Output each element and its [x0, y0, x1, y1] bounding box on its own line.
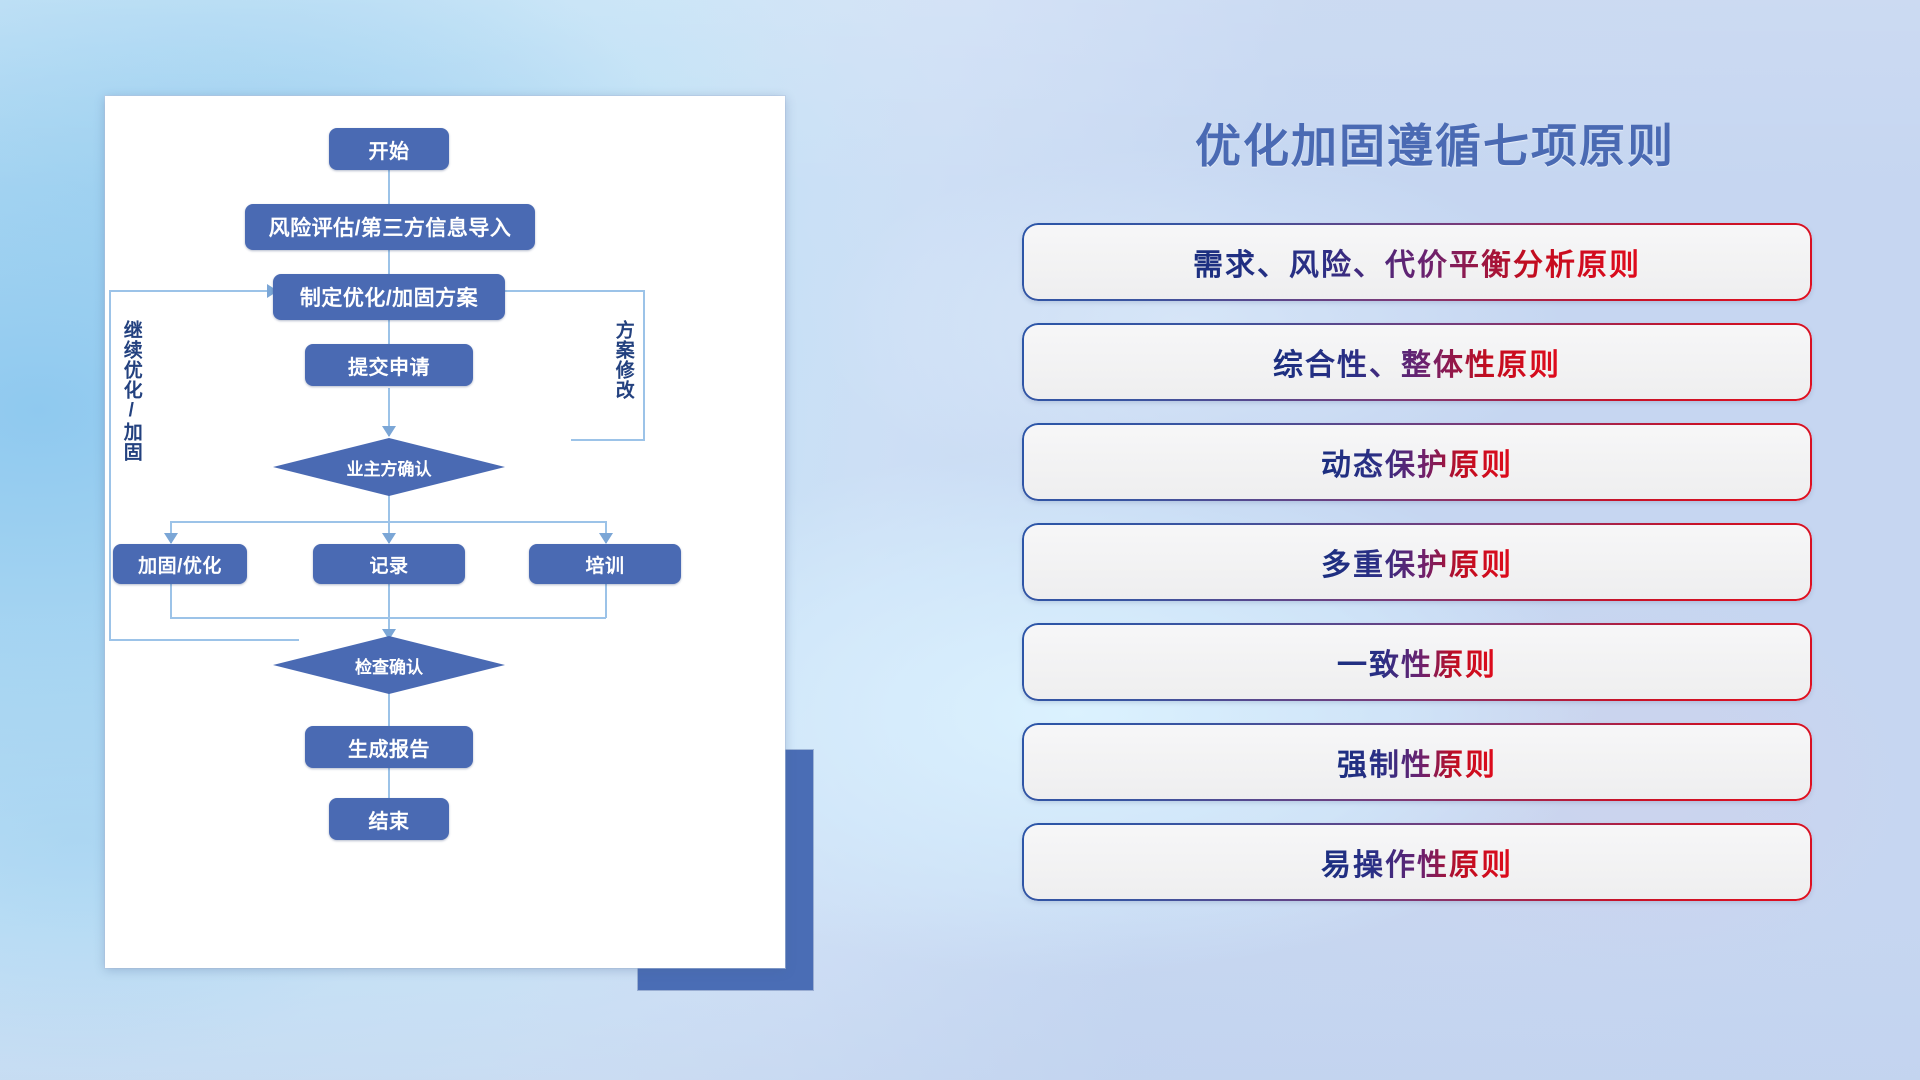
principle-item-7-label: 易操作性原则 — [1321, 840, 1513, 884]
flow-node-generate-report-label: 生成报告 — [348, 733, 430, 762]
principle-item-1-label: 需求、风险、代价平衡分析原则 — [1193, 240, 1641, 284]
right-loop-line-top — [495, 290, 645, 292]
principle-item-3-label: 动态保护原则 — [1321, 440, 1513, 484]
flow-node-start-label: 开始 — [369, 135, 410, 164]
principle-item-5[interactable]: 一致性原则 — [1022, 623, 1812, 701]
edge-inspect-to-left-loop — [109, 639, 299, 641]
flow-node-record[interactable]: 记录 — [313, 544, 465, 584]
flow-node-inspect-confirm-label: 检查确认 — [355, 653, 423, 678]
edge-merge-left — [170, 582, 172, 618]
flowchart-card: 开始 风险评估/第三方信息导入 制定优化/加固方案 提交申请 业主方确认 加固/… — [105, 96, 785, 968]
left-loop-line-top — [109, 290, 273, 292]
principle-item-4-label: 多重保护原则 — [1321, 540, 1513, 584]
flow-node-inspect-confirm[interactable]: 检查确认 — [273, 636, 505, 694]
right-loop-line-bottom — [571, 439, 645, 441]
flow-node-make-plan-label: 制定优化/加固方案 — [300, 282, 478, 312]
principle-item-7[interactable]: 易操作性原则 — [1022, 823, 1812, 901]
flow-node-owner-confirm-label: 业主方确认 — [347, 455, 432, 480]
flow-node-make-plan[interactable]: 制定优化/加固方案 — [273, 274, 505, 320]
right-loop-line-vertical — [643, 290, 645, 440]
edge-fanout-left-arrow — [164, 533, 178, 544]
flow-node-training-label: 培训 — [585, 551, 624, 578]
flow-node-end-label: 结束 — [369, 805, 410, 834]
edge-fanout-right-arrow — [599, 533, 613, 544]
edge-label-plan-revision: 方案修改 — [613, 320, 633, 400]
edge-merge-right — [605, 582, 607, 618]
flow-node-risk-assessment-label: 风险评估/第三方信息导入 — [269, 212, 512, 242]
flow-node-record-label: 记录 — [369, 551, 408, 578]
flow-node-start[interactable]: 开始 — [329, 128, 449, 170]
principles-list: 需求、风险、代价平衡分析原则 综合性、整体性原则 动态保护原则 多重保护原则 一… — [1022, 223, 1812, 923]
edge-owner-down — [388, 494, 390, 522]
principle-item-1[interactable]: 需求、风险、代价平衡分析原则 — [1022, 223, 1812, 301]
left-loop-line-vertical — [109, 290, 111, 640]
panel-title: 优化加固遵循七项原则 — [1020, 110, 1850, 176]
flow-node-reinforce-optimize-label: 加固/优化 — [138, 551, 222, 578]
principle-item-2-label: 综合性、整体性原则 — [1273, 340, 1561, 384]
flow-node-risk-assessment[interactable]: 风险评估/第三方信息导入 — [245, 204, 535, 250]
principle-item-6-label: 强制性原则 — [1337, 740, 1497, 784]
edge-submit-to-owner-arrow — [382, 426, 396, 437]
principle-item-5-label: 一致性原则 — [1337, 640, 1497, 684]
edge-fanout-mid-arrow — [382, 533, 396, 544]
edge-label-continue-optimize: 继续优化/加固 — [121, 320, 141, 462]
principle-item-6[interactable]: 强制性原则 — [1022, 723, 1812, 801]
principle-item-2[interactable]: 综合性、整体性原则 — [1022, 323, 1812, 401]
flowchart-diagram: 开始 风险评估/第三方信息导入 制定优化/加固方案 提交申请 业主方确认 加固/… — [105, 96, 785, 968]
flow-node-generate-report[interactable]: 生成报告 — [305, 726, 473, 768]
flow-node-owner-confirm[interactable]: 业主方确认 — [273, 438, 505, 496]
flow-node-training[interactable]: 培训 — [529, 544, 681, 584]
flow-node-submit-application[interactable]: 提交申请 — [305, 344, 473, 386]
principle-item-4[interactable]: 多重保护原则 — [1022, 523, 1812, 601]
flow-node-end[interactable]: 结束 — [329, 798, 449, 840]
principles-panel: 优化加固遵循七项原则 需求、风险、代价平衡分析原则 综合性、整体性原则 动态保护… — [1020, 80, 1850, 1020]
flow-node-reinforce-optimize[interactable]: 加固/优化 — [113, 544, 247, 584]
principle-item-3[interactable]: 动态保护原则 — [1022, 423, 1812, 501]
flow-node-submit-application-label: 提交申请 — [348, 351, 430, 380]
